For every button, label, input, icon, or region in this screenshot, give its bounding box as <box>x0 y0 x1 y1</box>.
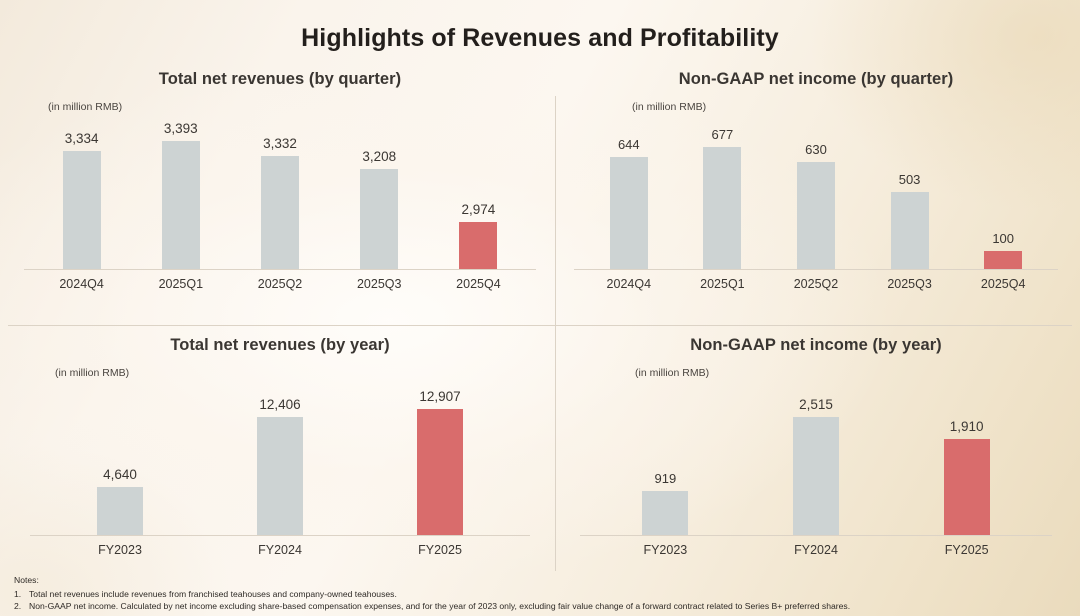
x-axis-labels: 2024Q42025Q12025Q22025Q32025Q4 <box>10 277 550 291</box>
bar-column: 2,515 <box>741 385 892 535</box>
bar-column: 12,406 <box>200 385 360 535</box>
bar <box>642 491 688 535</box>
chart-title: Total net revenues (by year) <box>10 336 550 355</box>
bar-column: 12,907 <box>360 385 520 535</box>
x-axis-tick-label: 2024Q4 <box>582 277 676 291</box>
bar-column: 100 <box>956 119 1050 269</box>
bar <box>162 141 200 269</box>
bar-column: 3,334 <box>32 119 131 269</box>
chart-unit-label: (in million RMB) <box>635 367 1072 379</box>
notes-heading: Notes: <box>14 574 850 586</box>
bar-value-label: 12,406 <box>259 397 300 412</box>
bar-column: 919 <box>590 385 741 535</box>
x-axis-labels: FY2023FY2024FY2025 <box>560 543 1072 557</box>
chart-title: Non-GAAP net income (by quarter) <box>560 70 1072 89</box>
bar-column: 3,208 <box>330 119 429 269</box>
chart-unit-label: (in million RMB) <box>632 101 1072 113</box>
bar-value-label: 919 <box>654 471 676 486</box>
bar-value-label: 3,208 <box>362 149 396 164</box>
note-text: Total net revenues include revenues from… <box>29 588 850 600</box>
chart-panel-non-gaap-net-income-by-quarter: Non-GAAP net income (by quarter) (in mil… <box>560 70 1072 320</box>
bar <box>257 417 303 535</box>
slide-canvas: Highlights of Revenues and Profitability… <box>0 0 1080 616</box>
bar-column: 3,332 <box>230 119 329 269</box>
bar <box>793 417 839 535</box>
chart-panel-total-net-revenues-by-quarter: Total net revenues (by quarter) (in mill… <box>10 70 550 320</box>
bar <box>891 192 929 269</box>
chart-unit-label: (in million RMB) <box>55 367 550 379</box>
chart-unit-label: (in million RMB) <box>48 101 550 113</box>
x-axis-tick-label: 2025Q1 <box>131 277 230 291</box>
x-axis-line <box>24 269 536 270</box>
bar <box>984 251 1022 269</box>
bar <box>63 151 101 269</box>
bar-column: 3,393 <box>131 119 230 269</box>
bar <box>944 439 990 535</box>
bar <box>610 157 648 269</box>
page-title: Highlights of Revenues and Profitability <box>0 24 1080 53</box>
note-number: 1. <box>14 588 29 600</box>
bar-value-label: 3,393 <box>164 121 198 136</box>
bar-value-label: 3,332 <box>263 136 297 151</box>
bar-value-label: 12,907 <box>419 389 460 404</box>
x-axis-tick-label: FY2023 <box>40 543 200 557</box>
x-axis-tick-label: 2025Q4 <box>429 277 528 291</box>
bar <box>797 162 835 269</box>
bar <box>360 169 398 269</box>
bar-column: 1,910 <box>891 385 1042 535</box>
bar-column: 2,974 <box>429 119 528 269</box>
x-axis-tick-label: FY2025 <box>891 543 1042 557</box>
x-axis-labels: FY2023FY2024FY2025 <box>10 543 550 557</box>
x-axis-line <box>580 535 1052 536</box>
chart-title: Total net revenues (by quarter) <box>10 70 550 89</box>
bar-column: 677 <box>676 119 770 269</box>
x-axis-tick-label: 2025Q4 <box>956 277 1050 291</box>
chart-panel-non-gaap-net-income-by-year: Non-GAAP net income (by year) (in millio… <box>560 336 1072 574</box>
bar <box>703 147 741 269</box>
bar-column: 4,640 <box>40 385 200 535</box>
note-item: 2. Non-GAAP net income. Calculated by ne… <box>14 600 850 612</box>
bar-column: 503 <box>863 119 957 269</box>
notes-block: Notes: 1. Total net revenues include rev… <box>14 574 850 612</box>
bar-value-label: 630 <box>805 142 827 157</box>
x-axis-tick-label: FY2025 <box>360 543 520 557</box>
x-axis-tick-label: FY2024 <box>200 543 360 557</box>
bar-value-label: 100 <box>992 231 1014 246</box>
vertical-divider <box>555 96 556 571</box>
bar-value-label: 3,334 <box>65 131 99 146</box>
bar-value-label: 2,515 <box>799 397 833 412</box>
bar-chart-area: 9192,5151,910 <box>560 385 1072 535</box>
bar <box>459 222 497 269</box>
x-axis-tick-label: 2024Q4 <box>32 277 131 291</box>
x-axis-tick-label: 2025Q1 <box>676 277 770 291</box>
bar <box>261 156 299 269</box>
x-axis-line <box>574 269 1058 270</box>
bar-column: 630 <box>769 119 863 269</box>
x-axis-tick-label: FY2023 <box>590 543 741 557</box>
chart-title: Non-GAAP net income (by year) <box>560 336 1072 355</box>
note-number: 2. <box>14 600 29 612</box>
bar-value-label: 4,640 <box>103 467 137 482</box>
x-axis-tick-label: 2025Q3 <box>863 277 957 291</box>
bar-chart-area: 3,3343,3933,3323,2082,974 <box>10 119 550 269</box>
bar-value-label: 1,910 <box>950 419 984 434</box>
note-text: Non-GAAP net income. Calculated by net i… <box>29 600 850 612</box>
bar <box>97 487 143 535</box>
x-axis-labels: 2024Q42025Q12025Q22025Q32025Q4 <box>560 277 1072 291</box>
bar-value-label: 644 <box>618 137 640 152</box>
x-axis-tick-label: FY2024 <box>741 543 892 557</box>
note-item: 1. Total net revenues include revenues f… <box>14 588 850 600</box>
bar-value-label: 677 <box>712 127 734 142</box>
horizontal-divider <box>8 325 1072 326</box>
x-axis-tick-label: 2025Q2 <box>230 277 329 291</box>
bar-value-label: 503 <box>899 172 921 187</box>
bar-chart-area: 4,64012,40612,907 <box>10 385 550 535</box>
bar-value-label: 2,974 <box>462 202 496 217</box>
x-axis-tick-label: 2025Q3 <box>330 277 429 291</box>
chart-panel-total-net-revenues-by-year: Total net revenues (by year) (in million… <box>10 336 550 574</box>
x-axis-line <box>30 535 530 536</box>
x-axis-tick-label: 2025Q2 <box>769 277 863 291</box>
bar <box>417 409 463 535</box>
bar-chart-area: 644677630503100 <box>560 119 1072 269</box>
bar-column: 644 <box>582 119 676 269</box>
